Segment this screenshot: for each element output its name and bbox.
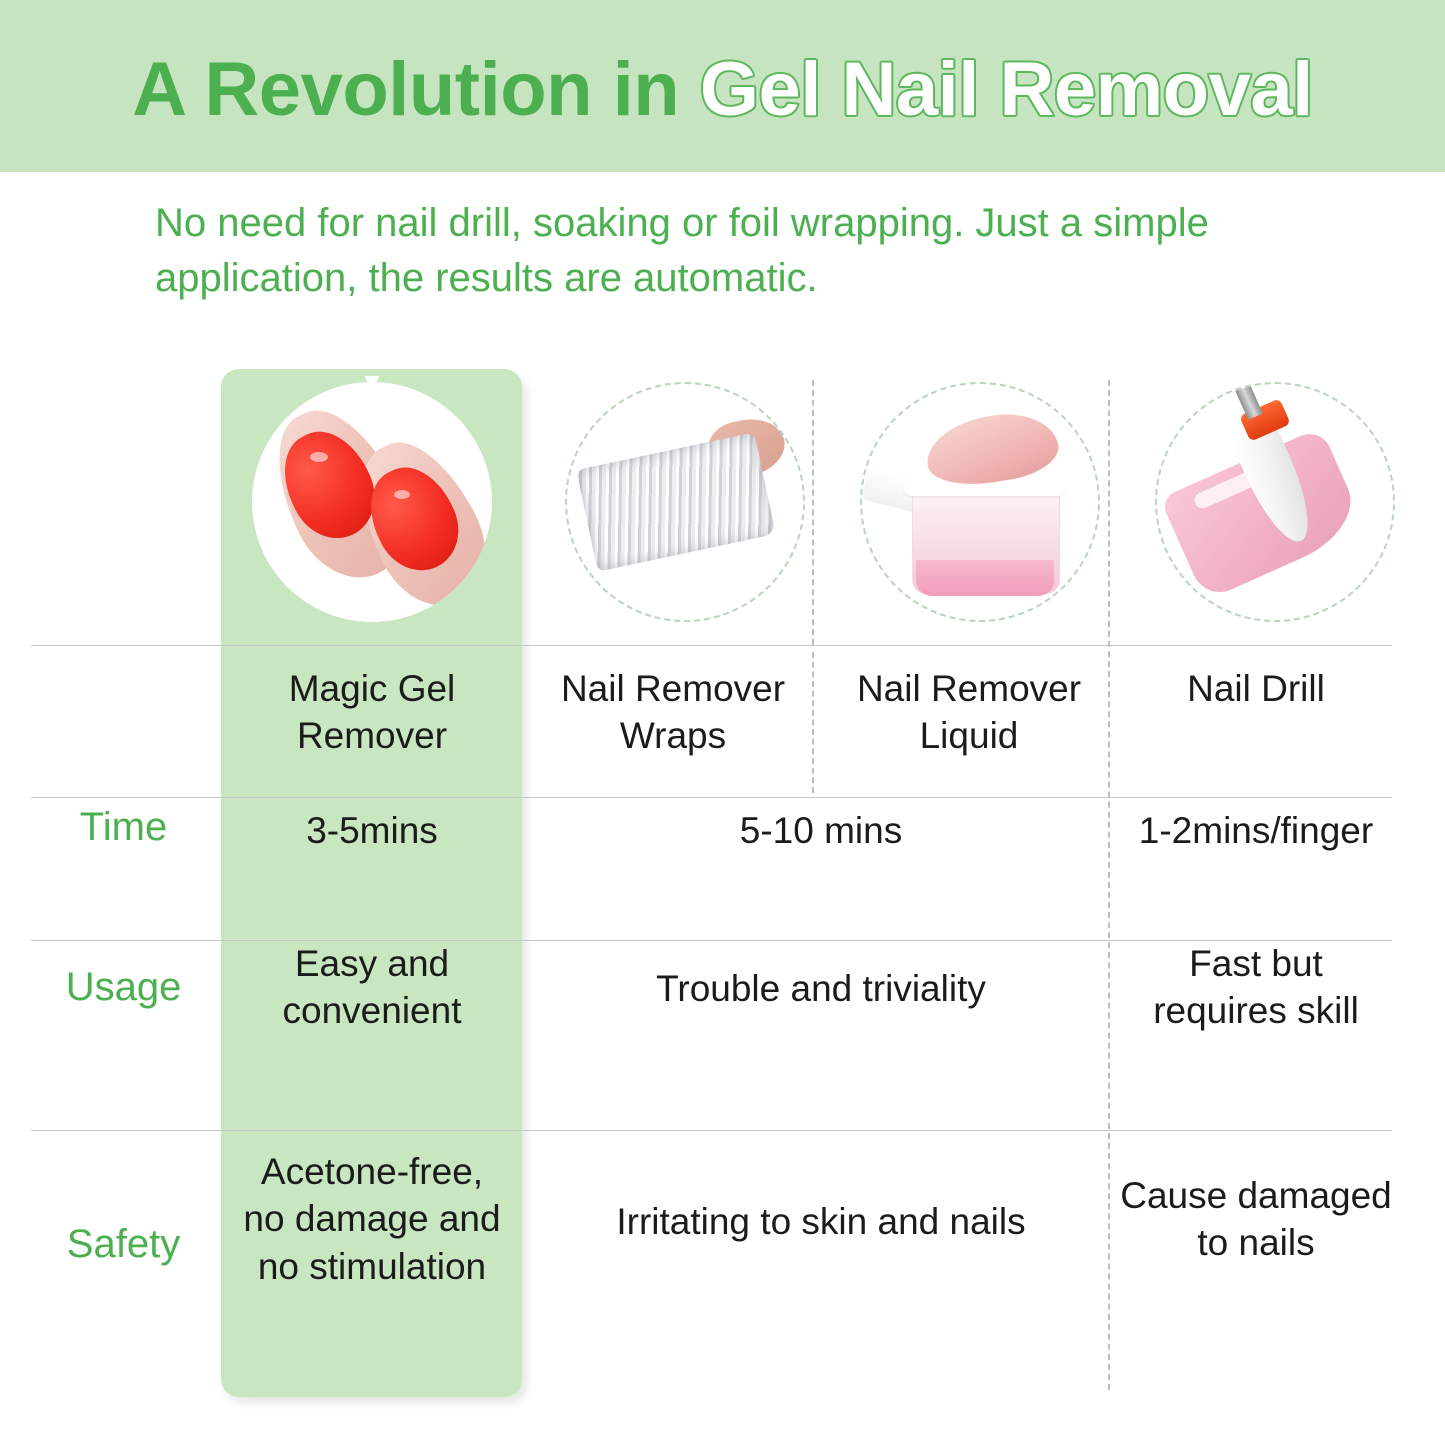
dashed-circle-frame	[860, 382, 1100, 622]
page-title-part-one: A Revolution in	[132, 47, 700, 132]
product-image-nails-with-red-gel-peeling	[252, 382, 492, 622]
cell-time-wraps-and-liquid: 5-10 mins	[540, 807, 1102, 854]
column-divider-dashed	[812, 380, 814, 645]
row-label-safety: Safety	[31, 1222, 216, 1267]
product-name-magic-gel-remover: Magic Gel Remover	[236, 665, 508, 760]
product-image-finger-in-remover-jar	[860, 382, 1100, 622]
cell-time-magic-gel-remover: 3-5mins	[236, 807, 508, 854]
page-title: A Revolution in Gel Nail Removal	[0, 50, 1445, 130]
cell-usage-magic-gel-remover: Easy and convenient	[236, 940, 508, 1035]
page-subtitle: No need for nail drill, soaking or foil …	[155, 196, 1335, 306]
table-divider-line	[31, 1130, 1392, 1131]
table-divider-line	[31, 645, 1392, 646]
cell-time-nail-drill: 1-2mins/finger	[1120, 807, 1392, 854]
comparison-table: Magic Gel Remover Nail Remover Wraps Nai…	[0, 360, 1445, 1400]
drill-shaft-icon	[1235, 384, 1263, 420]
cell-usage-nail-drill: Fast but requires skill	[1120, 940, 1392, 1035]
cell-safety-magic-gel-remover: Acetone-free, no damage and no stimulati…	[236, 1148, 508, 1290]
dashed-circle-frame	[565, 382, 805, 622]
cell-usage-wraps-and-liquid: Trouble and triviality	[540, 965, 1102, 1012]
page-title-part-two: Gel Nail Removal	[700, 47, 1313, 132]
product-image-foil-wrap-on-finger	[565, 382, 805, 622]
dashed-circle-frame	[1155, 382, 1395, 622]
product-name-nail-drill: Nail Drill	[1120, 665, 1392, 712]
row-label-time: Time	[31, 805, 216, 850]
foil-wrap-icon	[576, 432, 776, 572]
product-name-nail-remover-wraps: Nail Remover Wraps	[540, 665, 806, 760]
table-divider-line	[31, 797, 1392, 798]
cell-safety-wraps-and-liquid: Irritating to skin and nails	[540, 1198, 1102, 1245]
product-image-nail-drill-bit-on-nail	[1155, 382, 1395, 622]
product-name-nail-remover-liquid: Nail Remover Liquid	[836, 665, 1102, 760]
column-divider-dashed	[1108, 380, 1110, 1390]
pink-liquid-icon	[916, 560, 1054, 596]
column-divider-dashed	[812, 652, 814, 793]
cell-safety-nail-drill: Cause damaged to nails	[1120, 1172, 1392, 1267]
row-label-usage: Usage	[31, 965, 216, 1010]
scallop-edge-icon	[246, 376, 498, 628]
